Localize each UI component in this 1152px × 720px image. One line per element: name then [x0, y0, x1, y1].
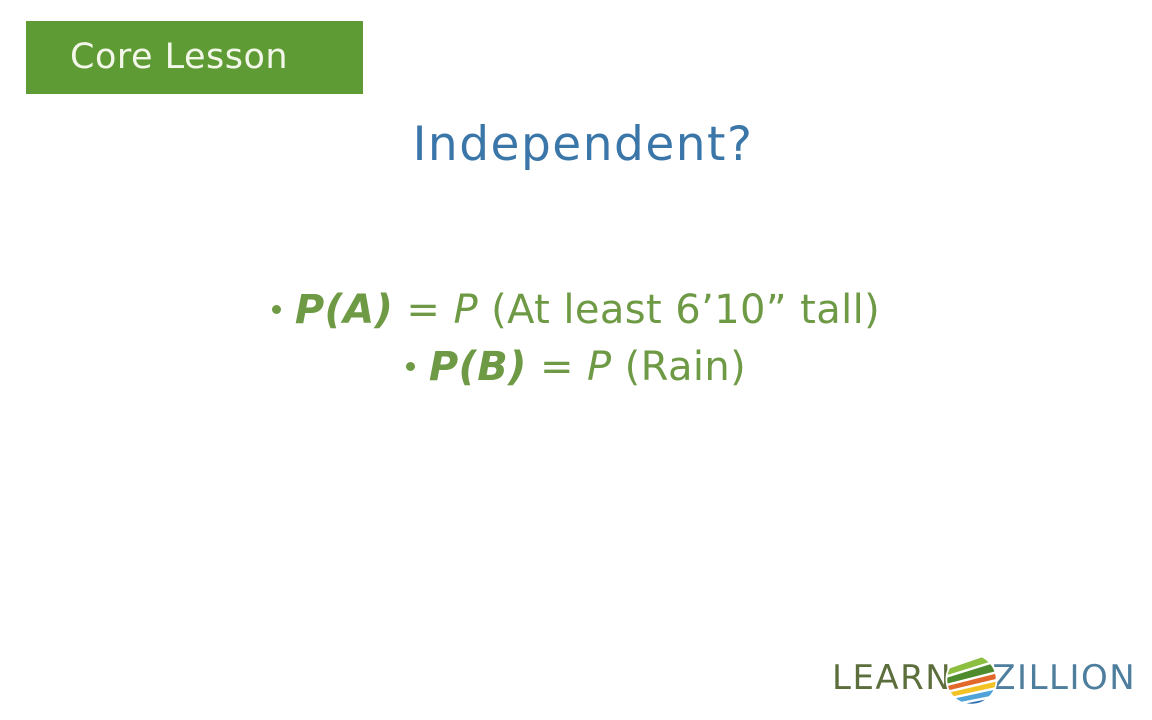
spacer-2b	[612, 344, 625, 390]
logo-word-learn: LEARN	[832, 661, 952, 695]
learnzillion-globe-icon	[943, 651, 1000, 708]
slide-title: Independent?	[0, 117, 1152, 173]
equals-symbol-2: =	[540, 344, 574, 390]
event-description-2: (Rain)	[625, 344, 747, 390]
core-lesson-banner: Core Lesson	[26, 21, 363, 94]
event-b: (B)	[459, 344, 527, 390]
spacer-1	[440, 287, 453, 333]
bullet-item-1-text: P(A) = P (At least 6’10” tall)	[295, 285, 880, 336]
probability-function-2: P	[587, 344, 612, 390]
slide-title-text: Independent?	[413, 117, 754, 173]
list-item: P(A) = P (At least 6’10” tall)	[0, 285, 1152, 336]
bullet-item-2-text: P(B) = P (Rain)	[429, 342, 746, 393]
spacer-2a	[574, 344, 587, 390]
equals-symbol-1: =	[406, 287, 440, 333]
spacer-2	[527, 344, 540, 390]
bullet-dot-icon	[406, 362, 415, 371]
list-item: P(B) = P (Rain)	[0, 342, 1152, 393]
probability-function-1: P	[453, 287, 478, 333]
slide-canvas: Core Lesson Independent? P(A) = P (At le…	[0, 0, 1152, 720]
probability-symbol-b: P	[429, 344, 459, 390]
logo-word-zillion: ZILLION	[992, 661, 1136, 695]
bullet-dot-icon	[272, 305, 281, 314]
event-description-1: (At least 6’10” tall)	[491, 287, 880, 333]
core-lesson-banner-label: Core Lesson	[70, 40, 288, 75]
learnzillion-logo: LEARN	[832, 650, 1140, 706]
event-a: (A)	[325, 287, 394, 333]
probability-symbol-a: P	[295, 287, 325, 333]
bullet-list: P(A) = P (At least 6’10” tall) P(B) = P …	[0, 285, 1152, 393]
spacer-1b	[478, 287, 491, 333]
equals-sign-1	[393, 287, 406, 333]
